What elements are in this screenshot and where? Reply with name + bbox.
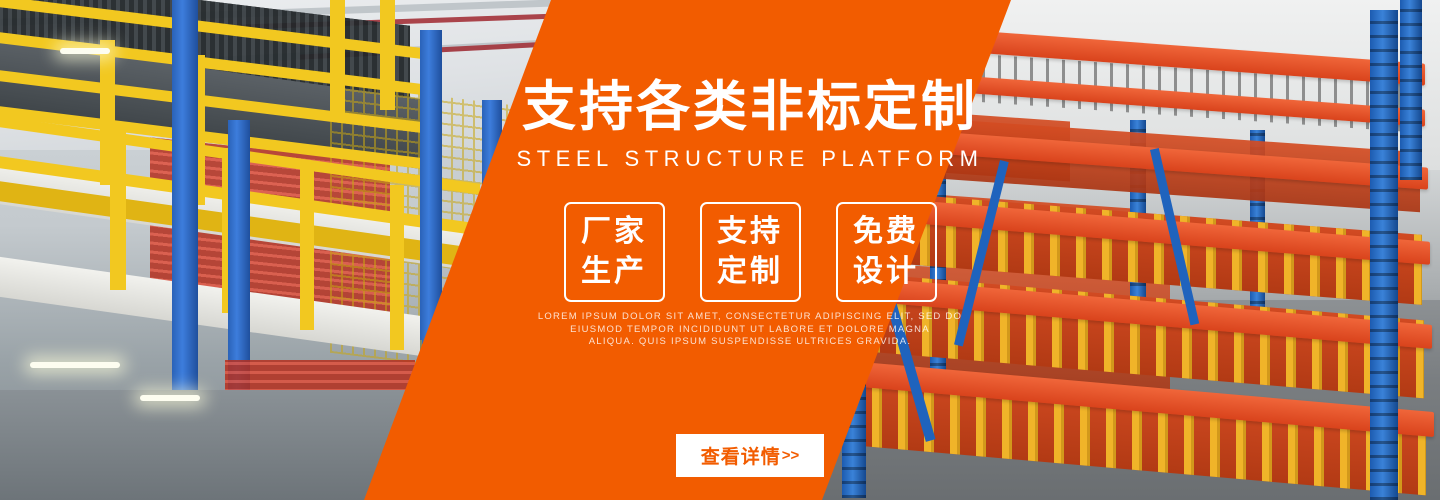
description-line-1: LOREM IPSUM DOLOR SIT AMET, CONSECTETUR … — [30, 311, 1440, 324]
description-line-2: EIUSMOD TEMPOR INCIDIDUNT UT LABORE ET D… — [30, 324, 1440, 337]
description-text: LOREM IPSUM DOLOR SIT AMET, CONSECTETUR … — [30, 311, 1440, 349]
cta-container: 查看详情>> — [30, 434, 1440, 477]
badge-line-1: 支持 — [717, 212, 783, 252]
feature-badge-customization: 支持 定制 — [700, 202, 801, 302]
badge-line-1: 免费 — [853, 212, 919, 252]
badge-line-1: 厂家 — [581, 212, 647, 252]
feature-badge-free-design: 免费 设计 — [836, 202, 937, 302]
promo-banner: 支持各类非标定制 STEEL STRUCTURE PLATFORM 厂家 生产 … — [0, 0, 1440, 500]
headline: 支持各类非标定制 — [30, 76, 1440, 138]
subheadline: STEEL STRUCTURE PLATFORM — [30, 146, 1440, 172]
badge-line-2: 生产 — [581, 252, 647, 292]
description-line-3: ALIQUA. QUIS IPSUM SUSPENDISSE ULTRICES … — [30, 336, 1440, 349]
feature-badge-manufacturer: 厂家 生产 — [564, 202, 665, 302]
badge-line-2: 定制 — [717, 252, 783, 292]
chevron-right-icon: >> — [782, 447, 800, 464]
view-details-button[interactable]: 查看详情>> — [676, 434, 824, 477]
badge-line-2: 设计 — [853, 252, 919, 292]
banner-content: 支持各类非标定制 STEEL STRUCTURE PLATFORM 厂家 生产 … — [0, 0, 1440, 500]
feature-badge-list: 厂家 生产 支持 定制 免费 设计 — [30, 202, 1440, 302]
cta-label: 查看详情 — [701, 442, 781, 469]
